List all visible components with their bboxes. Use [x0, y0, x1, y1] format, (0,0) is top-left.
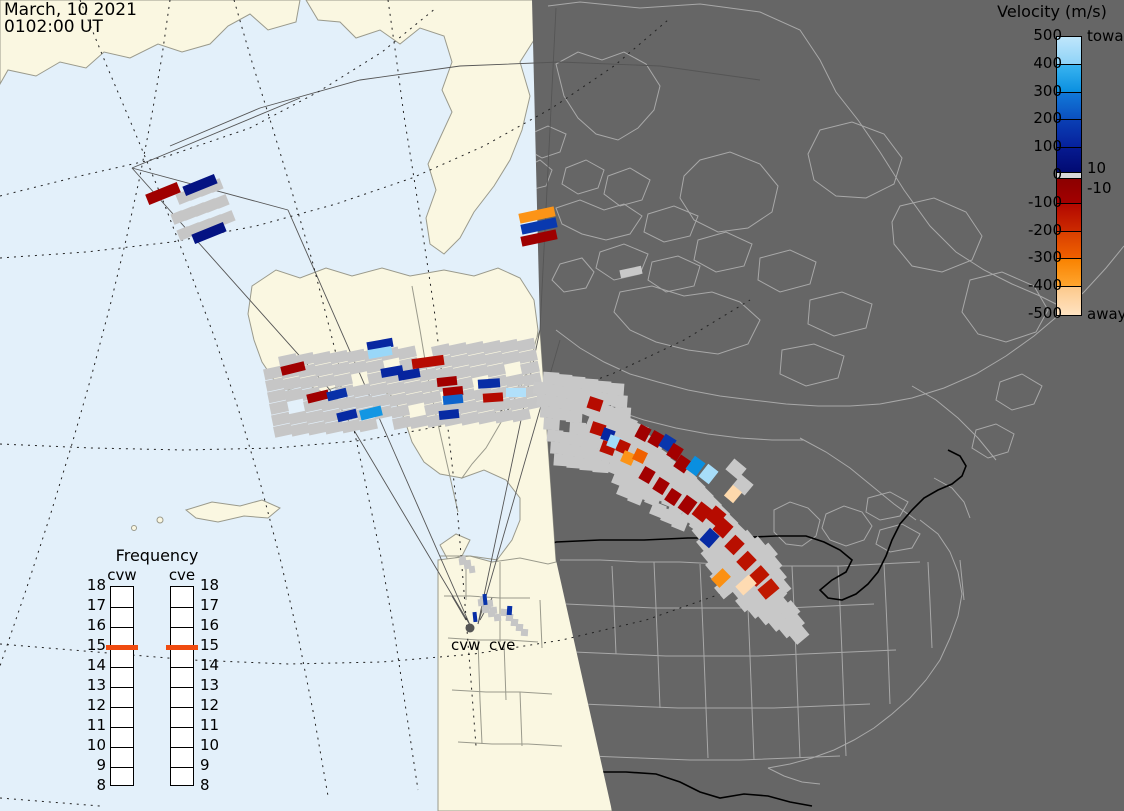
gauge-tick-label: 18	[86, 576, 106, 594]
gauge-tick-label: 15	[86, 636, 106, 654]
radar-cell	[494, 614, 502, 622]
velocity-cell	[483, 392, 504, 402]
gauge-division	[171, 667, 193, 668]
gauge-value-marker	[166, 645, 198, 650]
gauge-tick-label: 15	[200, 636, 219, 654]
gauge-tick-label: 10	[86, 736, 106, 754]
gauge-division	[111, 707, 133, 708]
radar-cell	[469, 566, 476, 574]
colorbar-tick-label: -200	[1002, 221, 1062, 239]
site-label-cve: cve	[489, 636, 515, 654]
frequency-gauge-cve[interactable]	[170, 586, 194, 786]
superdarn-velocity-map: March, 10 2021 0102:00 UT Velocity (m/s)…	[0, 0, 1124, 811]
radar-cell	[608, 383, 625, 396]
gauge-division	[111, 667, 133, 668]
gauge-tick-label: 16	[86, 616, 106, 634]
gauge-division	[171, 747, 193, 748]
colorbar-tick-label: -400	[1002, 276, 1062, 294]
colorbar-tick-label: -300	[1002, 248, 1062, 266]
gauge-tick-label: 17	[86, 596, 106, 614]
gauge-name-cve: cve	[162, 566, 202, 584]
colorbar-tick-label: 0	[1002, 165, 1062, 183]
gauge-division	[111, 767, 133, 768]
gauge-tick-label: 16	[200, 616, 219, 634]
gauge-tick-label: 12	[200, 696, 219, 714]
gauge-division	[171, 707, 193, 708]
gauge-division	[171, 687, 193, 688]
gauge-division	[111, 627, 133, 628]
gauge-division	[171, 767, 193, 768]
gauge-division	[111, 607, 133, 608]
gauge-tick-label: 8	[86, 776, 106, 794]
gauge-tick-label: 18	[200, 576, 219, 594]
gauge-division	[171, 727, 193, 728]
gauge-division	[111, 747, 133, 748]
colorbar-title: Velocity (m/s)	[990, 2, 1114, 21]
gauge-tick-label: 9	[86, 756, 106, 774]
gauge-tick-label: 13	[86, 676, 106, 694]
colorbar-side-label: -10	[1087, 179, 1112, 197]
gauge-tick-label: 14	[200, 656, 219, 674]
colorbar-side-label: toward	[1087, 27, 1124, 45]
frequency-gauge-cvw[interactable]	[110, 586, 134, 786]
colorbar-tick-label: -500	[1002, 304, 1062, 322]
velocity-colorbar: Velocity (m/s) 5004003002001000-100-200-…	[990, 0, 1124, 330]
colorbar-side-label: away	[1087, 305, 1124, 323]
gauge-tick-label: 9	[200, 756, 210, 774]
radar-cell	[507, 606, 513, 615]
gauge-tick-label: 11	[200, 716, 219, 734]
colorbar-tick-label: 300	[1002, 82, 1062, 100]
velocity-cell	[506, 388, 526, 397]
gauge-tick-label: 17	[200, 596, 219, 614]
gauge-tick-label: 13	[200, 676, 219, 694]
gauge-division	[171, 627, 193, 628]
gauge-tick-label: 11	[86, 716, 106, 734]
site-label-cvw: cvw	[451, 636, 480, 654]
colorbar-tick-label: 200	[1002, 109, 1062, 127]
colorbar-side-label: 10	[1087, 159, 1106, 177]
radar-cell	[611, 395, 628, 408]
colorbar-tick-label: 100	[1002, 137, 1062, 155]
velocity-cell	[478, 378, 501, 389]
gauge-tick-label: 14	[86, 656, 106, 674]
gauge-tick-label: 12	[86, 696, 106, 714]
colorbar-tick-label: 500	[1002, 26, 1062, 44]
frequency-panel-title: Frequency	[82, 546, 232, 565]
colorbar-tick-label: -100	[1002, 193, 1062, 211]
gauge-division	[111, 727, 133, 728]
gauge-division	[111, 687, 133, 688]
gauge-division	[171, 607, 193, 608]
colorbar-tick-label: 400	[1002, 54, 1062, 72]
radar-cell	[521, 629, 528, 636]
frequency-panel: Frequency cvw18171615141312111098cve1817…	[82, 546, 232, 796]
gauge-value-marker	[106, 645, 138, 650]
gauge-name-cvw: cvw	[102, 566, 142, 584]
radar-site-marker	[466, 624, 475, 633]
timestamp-time: 0102:00 UT	[4, 18, 103, 36]
gauge-tick-label: 8	[200, 776, 210, 794]
gauge-tick-label: 10	[200, 736, 219, 754]
